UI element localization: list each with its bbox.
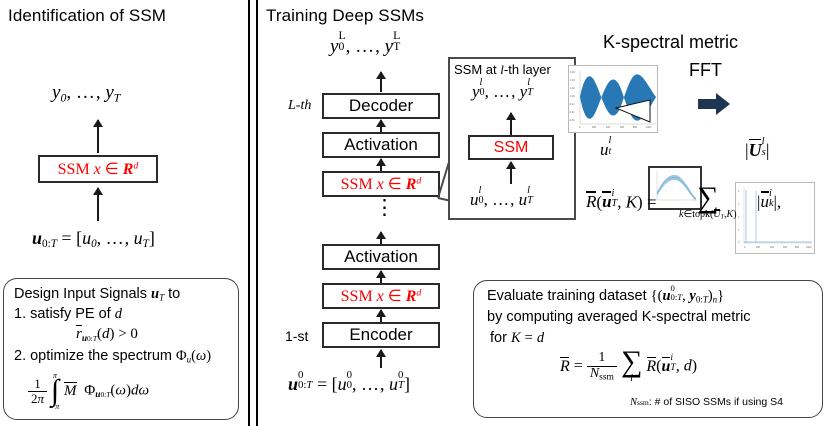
left-ssm-box: SSM x ∈ Rd <box>38 155 158 183</box>
stack-label-top: L-th <box>288 98 311 114</box>
fft-label: FFT <box>689 60 722 81</box>
stack-box-decoder-label: Decoder <box>349 96 413 116</box>
svg-text:0.06: 0.06 <box>570 71 575 74</box>
svg-text:1000: 1000 <box>646 126 652 129</box>
signal-plot-label: ult <box>600 140 611 161</box>
svg-text:200: 200 <box>592 126 597 129</box>
stack-arrow-5 <box>380 310 382 322</box>
callout-title-a: SSM at <box>454 62 497 77</box>
page-title-right: Training Deep SSMs <box>266 6 424 26</box>
svg-text:0.02: 0.02 <box>570 87 575 90</box>
stack-label-bottom: 1-st <box>285 328 308 344</box>
left-arrow-up-in <box>97 188 99 221</box>
stack-arrow-1 <box>380 120 382 132</box>
stack-arrow-2 <box>380 159 382 171</box>
left-output-signal: y0, …, yT <box>52 82 120 105</box>
callout-ssm-box: SSM <box>468 135 554 160</box>
svg-text:800: 800 <box>633 126 638 129</box>
inset-leader-lines <box>614 98 660 126</box>
eval-line-2: by computing averaged K-spectral metric <box>487 309 751 325</box>
design-line-1-suffix: to <box>168 286 180 302</box>
svg-text:0: 0 <box>579 126 581 129</box>
stack-box-encoder-label: Encoder <box>349 325 412 345</box>
svg-text:800: 800 <box>795 246 800 249</box>
spectrum-plot-label: |Uls| <box>745 140 769 163</box>
eval-footnote-tail: : # of SISO SSMs if using S4 <box>649 396 783 408</box>
eval-formula: R = 1Nssm ∑i R(uiT, d) <box>560 350 697 384</box>
design-line-1-text: Design Input Signals <box>14 286 147 302</box>
fft-arrow-icon <box>696 90 732 118</box>
svg-text:600: 600 <box>620 126 625 129</box>
page-title-left: Identification of SSM <box>8 6 166 26</box>
stack-arrow-4 <box>380 271 382 283</box>
stack-bottom-input: u00:T = [u00, …, u0T] <box>288 374 410 397</box>
svg-text:0.04: 0.04 <box>570 79 575 82</box>
design-line-2: 1. satisfy PE of d <box>14 306 122 323</box>
eval-line-1-text: Evaluate training dataset <box>487 288 647 304</box>
eval-footnote: Nssm: # of SISO SSMs if using S4 <box>630 396 783 408</box>
svg-text:600: 600 <box>783 246 788 249</box>
divider-center <box>256 0 258 426</box>
callout-arrow-in <box>510 162 512 184</box>
svg-text:0.00: 0.00 <box>570 95 575 98</box>
svg-text:1000: 1000 <box>806 246 812 249</box>
stack-box-decoder: Decoder <box>322 93 440 119</box>
design-equation-1: ru0:T(d) > 0 <box>76 326 138 344</box>
svg-text:-0.04: -0.04 <box>569 111 575 114</box>
stack-vertical-dots: ⋮ <box>374 204 388 213</box>
stack-box-activation-top: Activation <box>322 132 440 158</box>
callout-input: ul0, …, ulT <box>470 190 533 211</box>
stack-box-ssm-bottom: SSM x ∈ Rd <box>322 283 440 309</box>
svg-text:-0.02: -0.02 <box>569 103 575 106</box>
stack-box-encoder: Encoder <box>322 322 440 348</box>
callout-output: yl0, …, ylT <box>472 82 533 103</box>
design-line-3: 2. optimize the spectrum Φu(ω) <box>14 348 211 365</box>
callout-ssm-box-label: SSM <box>494 139 529 157</box>
svg-text:400: 400 <box>770 246 775 249</box>
stack-arrow-encoder-in <box>380 350 382 368</box>
divider-left <box>248 0 250 426</box>
left-input-signal: u0:T = [u0, …, uT] <box>32 228 155 250</box>
stack-box-ssm-top: SSM x ∈ Rd <box>322 171 440 197</box>
callout-arrow-out <box>510 113 512 135</box>
stack-top-output: yL0, …, yLT <box>330 36 400 60</box>
callout-title: SSM at l-th layer <box>454 62 551 78</box>
stack-box-activation-bottom: Activation <box>322 244 440 270</box>
design-equation-2: 12π π∫−π M Φu0:T(ω)dω <box>28 372 149 411</box>
k-spectral-metric-title: K-spectral metric <box>603 32 738 53</box>
callout-title-b: -th layer <box>504 62 551 77</box>
k-spectral-formula: R(uiT, K) = ∑k∈topk(UT,K) |uik|, <box>586 186 781 221</box>
eval-line-1: Evaluate training dataset {(u00:T, y0:T)… <box>487 288 724 305</box>
left-arrow-up-out <box>97 120 99 153</box>
svg-text:-0.06: -0.06 <box>569 119 575 122</box>
svg-text:200: 200 <box>756 246 761 249</box>
stack-box-activation-top-label: Activation <box>344 135 418 155</box>
stack-arrow-3 <box>380 232 382 244</box>
stack-arrow-decoder-out <box>380 72 382 92</box>
stack-box-activation-bottom-label: Activation <box>344 247 418 267</box>
design-line-1: Design Input Signals uT to <box>14 286 180 303</box>
eval-line-3: for K = d <box>490 330 544 347</box>
svg-text:400: 400 <box>606 126 611 129</box>
